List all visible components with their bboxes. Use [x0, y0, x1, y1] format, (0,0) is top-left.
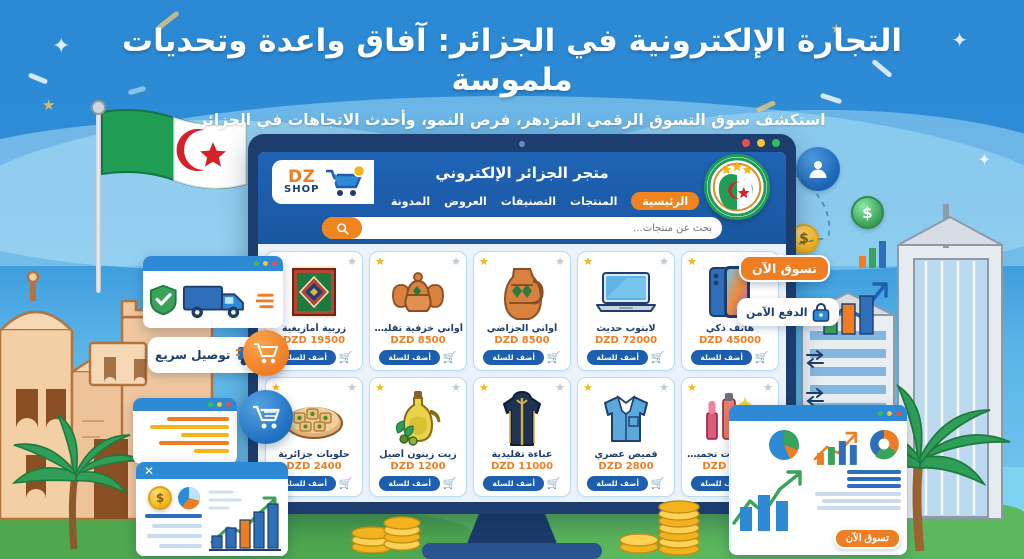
star-outline-icon: ★: [555, 381, 565, 394]
card-actions: 🛒 أضف للسلة: [373, 350, 463, 365]
pitcher-icon: [477, 263, 567, 321]
product-card[interactable]: ★ ★ عباءة تقليدية 11000: [473, 377, 571, 497]
add-to-cart-button[interactable]: أضف للسلة: [587, 476, 647, 491]
lock-icon: [812, 302, 830, 322]
bar-chart-with-trend: [206, 484, 284, 552]
product-grid: ★ ★: [258, 244, 786, 502]
cart-icon: 🛒: [547, 352, 561, 363]
product-card[interactable]: ★ ★ قميص عصري 2800 DZD: [577, 377, 675, 497]
product-name: حلويات جزائرية: [269, 449, 359, 460]
dashboard-left-panel: تسوق الآن: [811, 427, 901, 549]
window-traffic-lights: [742, 139, 780, 147]
coin-stack-icon: [617, 493, 709, 555]
product-card[interactable]: ★ ★: [473, 251, 571, 371]
logo-secondary-text: SHOP: [284, 185, 319, 195]
close-icon[interactable]: ✕: [144, 465, 154, 477]
algeria-emblem-icon: [704, 154, 770, 220]
nav-item-products[interactable]: المنتجات: [570, 195, 617, 208]
page-title: التجارة الإلكترونية في الجزائر: آفاق واع…: [0, 22, 1024, 100]
growth-chart-icon: [811, 427, 863, 467]
transfer-arrows-icon: [804, 348, 826, 370]
monitor-neck: [466, 514, 558, 546]
delivery-truck-icon: [182, 278, 252, 322]
window-titlebar: [133, 398, 237, 411]
product-price: 1200 DZD: [390, 461, 445, 472]
search-icon: [336, 222, 349, 235]
mini-window: [133, 398, 237, 464]
add-to-cart-button[interactable]: أضف للسلة: [691, 350, 751, 365]
store-name: متجر الجزائر الإلكتروني: [435, 164, 608, 182]
abaya-icon: [477, 389, 567, 447]
palm-tree-icon: [4, 389, 154, 549]
product-price: 45000 DZD: [699, 335, 761, 346]
star-outline-icon: ★: [763, 381, 773, 394]
star-outline-icon: ★: [347, 381, 357, 394]
svg-text:★: ★: [350, 168, 356, 176]
pie-chart-icon: [766, 427, 806, 463]
cart-badge-orange[interactable]: [243, 330, 289, 376]
dashboard-body: تسوق الآن: [729, 421, 907, 555]
shop-now-badge[interactable]: تسوق الآن: [739, 255, 830, 282]
product-name: قميص عصري: [581, 449, 671, 460]
add-to-cart-button[interactable]: أضف للسلة: [379, 476, 439, 491]
sparkle-icon: ✦: [978, 150, 991, 169]
nav-item-home[interactable]: الرئيسية: [631, 192, 699, 210]
search-bar[interactable]: [322, 217, 722, 239]
shirt-icon: [581, 389, 671, 447]
laptop-icon: [581, 263, 671, 321]
product-price: 19500 DZD: [283, 335, 345, 346]
dollar-coin-icon: $: [148, 486, 172, 510]
cart-badge-blue[interactable]: [239, 390, 293, 444]
mini-bar-chart-icon: [856, 238, 890, 268]
store-header: متجر الجزائر الإلكتروني ★★★ ★: [258, 152, 786, 244]
card-actions: 🛒 أضف للسلة: [477, 476, 567, 491]
cart-icon: 🛒: [547, 478, 561, 489]
cart-icon: 🛒: [651, 478, 665, 489]
logo-primary-text: DZ: [288, 169, 315, 185]
monitor-frame: متجر الجزائر الإلكتروني ★★★ ★: [248, 134, 796, 514]
star-outline-icon: ★: [659, 255, 669, 268]
product-price: 11000 DZD: [491, 461, 553, 472]
fast-delivery-label: توصيل سريع: [155, 349, 230, 362]
shopping-cart-icon: [253, 341, 279, 365]
star-filled-icon: ★: [583, 255, 593, 268]
mini-window-body: [133, 411, 237, 464]
add-to-cart-button[interactable]: أضف للسلة: [483, 476, 543, 491]
product-price: 8500 DZD: [390, 335, 445, 346]
star-filled-icon: ★: [687, 381, 697, 394]
card-actions: 🛒 أضف للسلة: [581, 350, 671, 365]
page-subtitle: استكشف سوق التسوق الرقمي المزدهر، فرص ال…: [0, 111, 1024, 129]
star-filled-icon: ★: [479, 255, 489, 268]
secure-payment-badge: الدفع الآمن: [737, 298, 839, 326]
card-actions: 🛒 أضف للسلة: [685, 350, 775, 365]
product-name: عباءة تقليدية: [477, 449, 567, 460]
search-button[interactable]: [322, 217, 362, 239]
star-filled-icon: ★: [479, 381, 489, 394]
window-titlebar: [143, 256, 283, 271]
store-title-bar: متجر الجزائر الإلكتروني ★★★ ★: [266, 158, 778, 188]
analytics-body: $: [136, 479, 288, 556]
card-actions: 🛒 أضف للسلة: [581, 476, 671, 491]
window-titlebar: [729, 405, 907, 421]
nav-item-categories[interactable]: التصنيفات: [501, 195, 556, 208]
product-card[interactable]: ★ ★: [369, 377, 467, 497]
product-card[interactable]: ★ ★ لابتوب حديث 72000 D: [577, 251, 675, 371]
donut-chart-icon: [867, 427, 901, 461]
nav-item-blog[interactable]: المدونة: [391, 195, 430, 208]
star-filled-icon: ★: [375, 381, 385, 394]
cart-icon: 🛒: [755, 352, 769, 363]
star-outline-icon: ★: [451, 381, 461, 394]
product-name: زربية أمازيغية: [269, 323, 359, 334]
star-filled-icon: ★: [687, 255, 697, 268]
cart-icon: 🛒: [443, 352, 457, 363]
product-name: أواني الجزاضي: [477, 323, 567, 334]
window-titlebar: ✕: [136, 462, 288, 479]
headline-block: التجارة الإلكترونية في الجزائر: آفاق واع…: [0, 22, 1024, 129]
shopping-cart-icon: [251, 403, 281, 431]
product-name: أواني خزفية تقليدية: [373, 323, 463, 334]
screen: متجر الجزائر الإلكتروني ★★★ ★: [258, 152, 786, 502]
product-price: 72000 DZD: [595, 335, 657, 346]
star-filled-icon: ★: [583, 381, 593, 394]
analytics-window-left: ✕: [136, 462, 288, 556]
pie-chart-icon: [176, 485, 202, 511]
shield-check-icon: [149, 283, 178, 317]
product-row: ★ ★: [265, 377, 779, 497]
product-name: زيت زيتون أصيل: [373, 449, 463, 460]
cart-icon: 🛒: [339, 352, 353, 363]
monitor-base: [422, 543, 602, 559]
analytics-dashboard-window: تسوق الآن: [729, 405, 907, 555]
webcam-dot: [519, 141, 525, 147]
star-outline-icon: ★: [659, 381, 669, 394]
dashboard-shop-now-button[interactable]: تسوق الآن: [834, 528, 901, 549]
delivery-window: [143, 256, 283, 328]
nav-item-offers[interactable]: العروض: [444, 195, 487, 208]
card-actions: 🛒 أضف للسلة: [373, 476, 463, 491]
search-input[interactable]: [362, 217, 722, 239]
cart-icon: 🛒: [339, 478, 353, 489]
star-outline-icon: ★: [555, 255, 565, 268]
coin-stack-icon: [348, 509, 428, 553]
dashboard-right-panel: [730, 427, 806, 549]
star-filled-icon: ★: [375, 255, 385, 268]
add-to-cart-button[interactable]: أضف للسلة: [587, 350, 647, 365]
line-and-bar-chart: [730, 467, 806, 535]
product-name: لابتوب حديث: [581, 323, 671, 334]
product-card[interactable]: ★ ★ أواني خزفية تق: [369, 251, 467, 371]
star-outline-icon: ★: [347, 255, 357, 268]
product-price: 2800 DZD: [598, 461, 653, 472]
cart-icon: 🛒: [443, 478, 457, 489]
pottery-icon: [373, 263, 463, 321]
shopping-cart-logo-icon: ★★★ ★: [324, 166, 364, 198]
cart-icon: 🛒: [651, 352, 665, 363]
olive-oil-icon: [373, 389, 463, 447]
analytics-side: $: [140, 485, 202, 551]
secure-payment-label: الدفع الآمن: [746, 306, 807, 319]
search-row: [266, 214, 778, 245]
product-price: 2400 DZD: [286, 461, 341, 472]
star-outline-icon: ★: [451, 255, 461, 268]
poster-canvas: ✦ ★ ✦ ✦ ✦ ★ التجارة الإلكترونية في الجزا…: [0, 0, 1024, 559]
card-actions: 🛒 أضف للسلة: [477, 350, 567, 365]
svg-text:★★★: ★★★: [324, 177, 337, 185]
speed-lines-icon: [256, 286, 277, 314]
product-price: 8500 DZD: [494, 335, 549, 346]
add-to-cart-button[interactable]: أضف للسلة: [483, 350, 543, 365]
add-to-cart-button[interactable]: أضف للسلة: [379, 350, 439, 365]
delivery-window-body: [143, 271, 283, 328]
product-row: ★ ★: [265, 251, 779, 371]
store-logo[interactable]: ★★★ ★ DZ SHOP: [272, 160, 374, 204]
